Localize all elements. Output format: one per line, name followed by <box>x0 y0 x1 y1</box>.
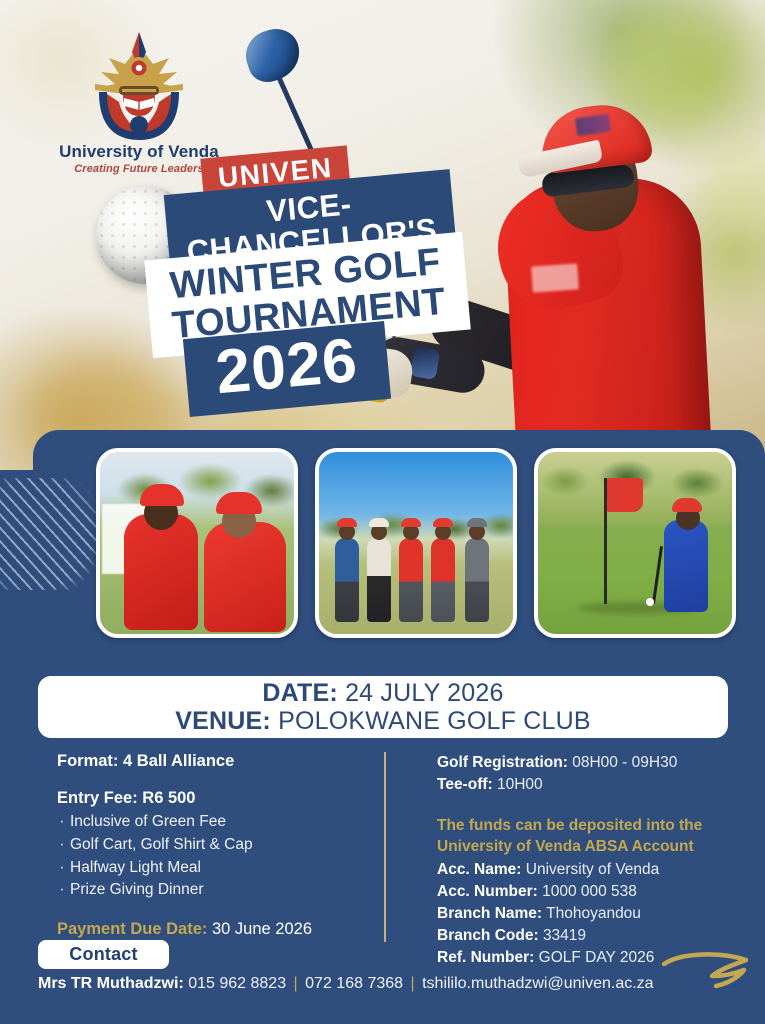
contact-person-label: Mrs TR Muthadzwi: <box>38 975 184 992</box>
venue-value: POLOKWANE GOLF CLUB <box>278 707 591 735</box>
list-item: Prize Giving Dinner <box>57 879 367 902</box>
photo2-person-3 <box>399 538 423 622</box>
gallery-photo-1 <box>96 448 298 638</box>
inclusions-list: Inclusive of Green Fee Golf Cart, Golf S… <box>57 811 367 902</box>
date-value: 24 JULY 2026 <box>345 679 504 707</box>
bank-value: Thohoyandou <box>546 905 641 922</box>
payment-due-line: Payment Due Date: 30 June 2026 <box>57 920 367 939</box>
photo-gallery <box>96 448 736 638</box>
photo2-person-1 <box>335 538 359 622</box>
format-label: Format: <box>57 752 118 770</box>
bank-label: Acc. Name: <box>437 861 521 878</box>
photo3-putting-golfer-cap <box>672 498 702 512</box>
title-stack: UNIVEN VICE- CHANCELLOR'S WINTER GOLF TO… <box>0 0 765 470</box>
photo1-golfer-right-cap <box>216 492 262 514</box>
bank-label: Ref. Number: <box>437 949 534 966</box>
photo3-flag-icon <box>607 478 643 512</box>
golf-tournament-poster: University of Venda Creating Future Lead… <box>0 0 765 1024</box>
title-year: 2026 <box>183 321 391 417</box>
funds-note-line-1: The funds can be deposited into the <box>437 816 737 837</box>
details-right-column: Golf Registration: 08H00 - 09H30 Tee-off… <box>437 752 737 969</box>
bank-row: Branch Code: 33419 <box>437 925 737 947</box>
contact-phone-1[interactable]: 015 962 8823 <box>188 975 286 992</box>
bank-value: GOLF DAY 2026 <box>539 949 655 966</box>
date-venue-bar: DATE: 24 JULY 2026 VENUE: POLOKWANE GOLF… <box>38 676 728 738</box>
funds-note: The funds can be deposited into the Univ… <box>437 816 737 858</box>
bank-value: 33419 <box>543 927 586 944</box>
photo1-golfer-left-body <box>124 514 198 630</box>
contact-email[interactable]: tshililo.muthadzwi@univen.ac.za <box>422 975 653 992</box>
gallery-photo-3 <box>534 448 736 638</box>
registration-line: Golf Registration: 08H00 - 09H30 <box>437 752 737 774</box>
bank-row: Branch Name: Thohoyandou <box>437 903 737 925</box>
contact-separator: | <box>291 975 301 992</box>
teeoff-line: Tee-off: 10H00 <box>437 774 737 796</box>
funds-note-line-2: University of Venda ABSA Account <box>437 837 737 858</box>
teeoff-value: 10H00 <box>497 776 543 793</box>
payment-due-value: 30 June 2026 <box>212 920 312 938</box>
photo3-golf-ball <box>646 598 654 606</box>
format-value: 4 Ball Alliance <box>123 752 234 770</box>
contact-separator: | <box>407 975 417 992</box>
bank-value: 1000 000 538 <box>542 883 637 900</box>
registration-value: 08H00 - 09H30 <box>572 754 677 771</box>
contact-chip: Contact <box>38 940 169 969</box>
details-columns: Format: 4 Ball Alliance Entry Fee: R6 50… <box>0 752 765 942</box>
payment-due-label: Payment Due Date: <box>57 920 207 938</box>
bank-row: Acc. Number: 1000 000 538 <box>437 881 737 903</box>
photo3-putting-golfer-body <box>664 520 708 612</box>
entry-fee-label: Entry Fee: <box>57 789 138 807</box>
list-item: Golf Cart, Golf Shirt & Cap <box>57 834 367 857</box>
bank-row: Acc. Name: University of Venda <box>437 859 737 881</box>
photo3-putter <box>652 546 663 604</box>
bank-label: Branch Name: <box>437 905 542 922</box>
contact-details-line: Mrs TR Muthadzwi: 015 962 8823 | 072 168… <box>38 975 738 993</box>
list-item: Halfway Light Meal <box>57 857 367 880</box>
details-left-column: Format: 4 Ball Alliance Entry Fee: R6 50… <box>57 752 367 956</box>
teeoff-label: Tee-off: <box>437 776 493 793</box>
gallery-photo-2 <box>315 448 517 638</box>
date-label: DATE: <box>262 679 338 707</box>
list-item: Inclusive of Green Fee <box>57 811 367 834</box>
gold-swoosh-decoration <box>660 946 760 992</box>
venue-label: VENUE: <box>175 707 271 735</box>
venue-line: VENUE: POLOKWANE GOLF CLUB <box>175 707 591 735</box>
format-line: Format: 4 Ball Alliance <box>57 752 367 771</box>
photo2-person-4 <box>431 538 455 622</box>
entry-fee-value: R6 500 <box>142 789 195 807</box>
bank-label: Acc. Number: <box>437 883 538 900</box>
entry-fee-line: Entry Fee: R6 500 <box>57 789 367 808</box>
bank-label: Branch Code: <box>437 927 539 944</box>
date-line: DATE: 24 JULY 2026 <box>262 679 503 707</box>
photo2-person-5 <box>465 538 489 622</box>
contact-phone-2[interactable]: 072 168 7368 <box>305 975 403 992</box>
registration-label: Golf Registration: <box>437 754 568 771</box>
bank-value: University of Venda <box>526 861 660 878</box>
photo2-person-2 <box>367 538 391 622</box>
photo1-golfer-right-body <box>204 522 286 632</box>
column-divider <box>384 752 386 942</box>
